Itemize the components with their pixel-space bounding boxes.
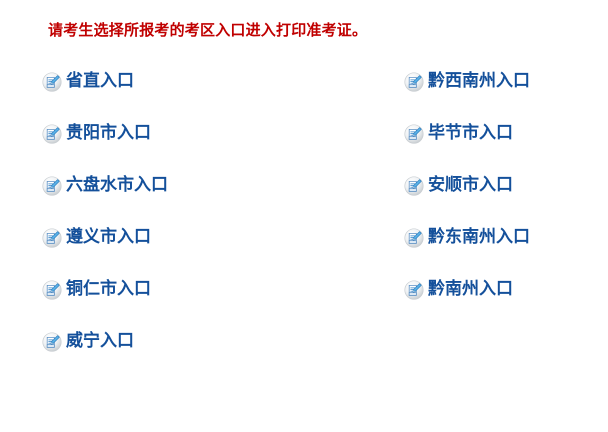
entry-link-qiannan[interactable]: 黔南州入口	[404, 272, 513, 324]
exam-entry-page: 请考生选择所报考的考区入口进入打印准考证。	[0, 0, 608, 432]
entry-link-tongren[interactable]: 铜仁市入口	[42, 272, 151, 324]
entry-label: 黔西南州入口	[428, 71, 530, 92]
entry-label: 黔南州入口	[428, 279, 513, 300]
entry-link-liupanshui[interactable]: 六盘水市入口	[42, 168, 168, 220]
document-edit-icon	[404, 124, 425, 145]
entry-label: 六盘水市入口	[66, 175, 168, 196]
document-edit-icon	[42, 280, 63, 301]
document-edit-icon	[42, 124, 63, 145]
page-notice: 请考生选择所报考的考区入口进入打印准考证。	[48, 20, 367, 40]
entry-label: 毕节市入口	[428, 123, 513, 144]
entry-link-shengzhi[interactable]: 省直入口	[42, 64, 134, 116]
document-edit-icon	[404, 176, 425, 197]
entry-label: 省直入口	[66, 71, 134, 92]
entry-label: 铜仁市入口	[66, 279, 151, 300]
document-edit-icon	[42, 72, 63, 93]
entry-label: 安顺市入口	[428, 175, 513, 196]
document-edit-icon	[404, 228, 425, 249]
entry-link-bijie[interactable]: 毕节市入口	[404, 116, 513, 168]
entry-label: 威宁入口	[66, 331, 134, 352]
entry-link-weining[interactable]: 威宁入口	[42, 324, 134, 376]
entry-link-guiyang[interactable]: 贵阳市入口	[42, 116, 151, 168]
document-edit-icon	[42, 176, 63, 197]
entry-column-left: 省直入口 贵阳市入口	[42, 64, 372, 376]
document-edit-icon	[404, 72, 425, 93]
entry-link-qianxinan[interactable]: 黔西南州入口	[404, 64, 530, 116]
entry-link-zunyi[interactable]: 遵义市入口	[42, 220, 151, 272]
entry-label: 贵阳市入口	[66, 123, 151, 144]
entry-column-right: 黔西南州入口 毕节市入口	[404, 64, 608, 324]
document-edit-icon	[42, 228, 63, 249]
entry-link-anshun[interactable]: 安顺市入口	[404, 168, 513, 220]
document-edit-icon	[404, 280, 425, 301]
document-edit-icon	[42, 332, 63, 353]
entry-link-qiandongnan[interactable]: 黔东南州入口	[404, 220, 530, 272]
entry-label: 黔东南州入口	[428, 227, 530, 248]
entry-label: 遵义市入口	[66, 227, 151, 248]
